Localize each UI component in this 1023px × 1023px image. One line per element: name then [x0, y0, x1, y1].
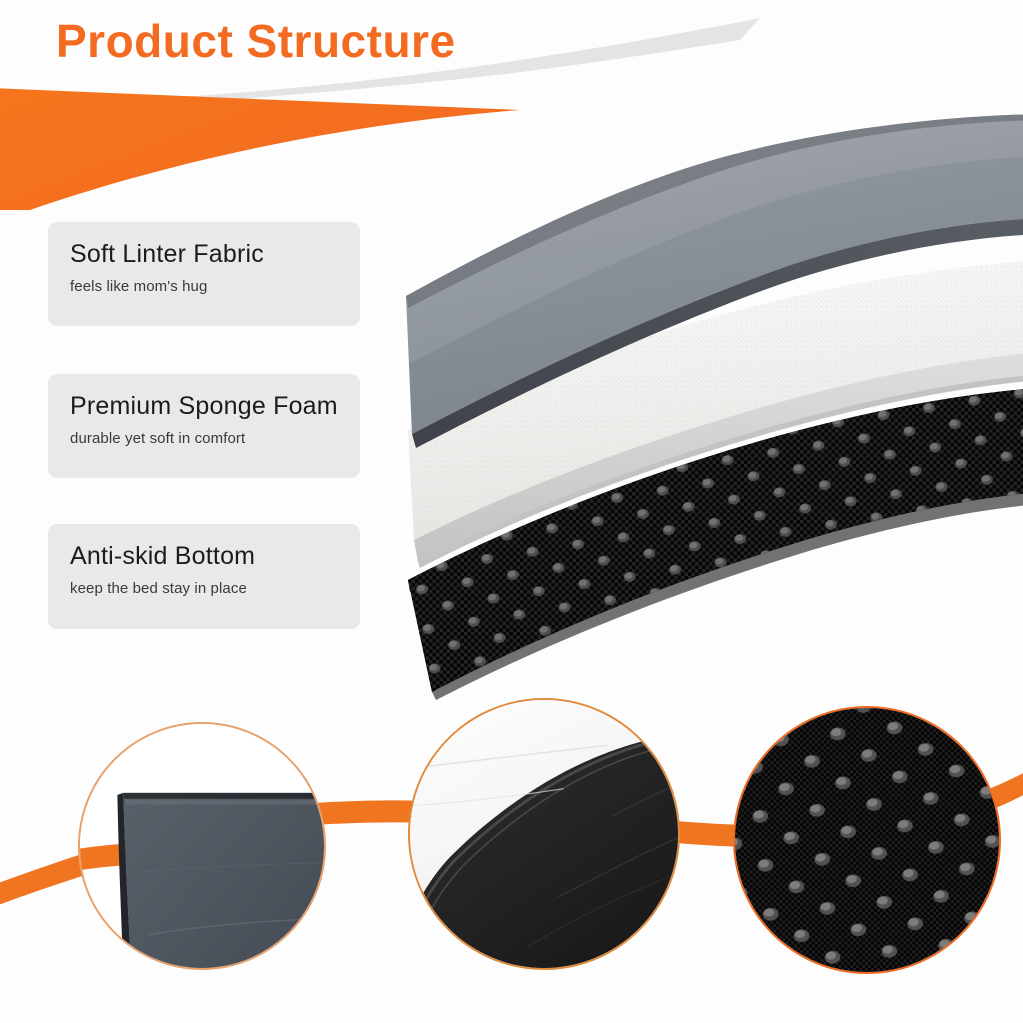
detail-circle-mat-corner[interactable] — [78, 722, 326, 970]
feature-subtitle: durable yet soft in comfort — [70, 430, 360, 447]
feature-subtitle: feels like mom's hug — [70, 278, 360, 295]
antiskid-dots-image — [735, 708, 999, 972]
page-title: Product Structure — [56, 14, 456, 68]
feature-box-middle-foam[interactable]: Premium Sponge Foamdurable yet soft in c… — [48, 374, 360, 478]
mat-corner-image — [80, 724, 324, 968]
feature-title: Anti-skid Bottom — [70, 542, 360, 571]
product-structure-infographic: Product Structure — [0, 0, 1023, 1023]
detail-circle-foam-backing-edge[interactable] — [408, 698, 680, 970]
detail-circle-antiskid-dots[interactable] — [733, 706, 1001, 974]
layered-product-illustration — [380, 100, 1023, 710]
feature-box-bottom-antiskid[interactable]: Anti-skid Bottomkeep the bed stay in pla… — [48, 524, 360, 629]
feature-title: Soft Linter Fabric — [70, 240, 360, 269]
foam-backing-edge-image — [410, 700, 678, 968]
feature-box-top-fabric[interactable]: Soft Linter Fabricfeels like mom's hug — [48, 222, 360, 326]
feature-subtitle: keep the bed stay in place — [70, 580, 360, 597]
feature-title: Premium Sponge Foam — [70, 392, 360, 421]
